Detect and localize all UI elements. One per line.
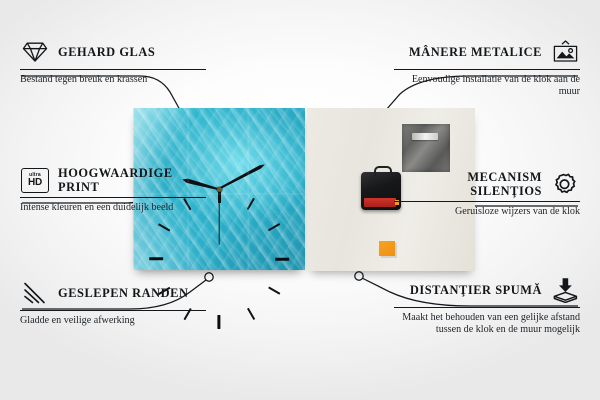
diamond-icon bbox=[20, 38, 50, 66]
feature-title: GESLEPEN RANDEN bbox=[58, 286, 188, 300]
gear-icon bbox=[550, 170, 580, 198]
feature-description: Bestand tegen breuk en krassen bbox=[20, 74, 206, 86]
clock-minute-hand bbox=[218, 163, 266, 191]
feature-divider bbox=[394, 201, 580, 202]
clock-tick bbox=[149, 257, 163, 260]
feature-divider bbox=[20, 310, 206, 311]
feature-header: GEHARD GLAS bbox=[20, 38, 206, 66]
beveled-edges-icon bbox=[20, 279, 50, 307]
feature-mecanism-silentios: MECANISM SILENŢIOS Geruisloze wijzers va… bbox=[394, 170, 580, 219]
clock-tick bbox=[158, 223, 170, 232]
feature-title: GEHARD GLAS bbox=[58, 45, 155, 59]
clock-tick bbox=[275, 258, 289, 261]
connector-dot-distantier-spuma bbox=[355, 272, 363, 280]
clock-tick bbox=[246, 308, 255, 320]
feature-divider bbox=[20, 69, 206, 70]
feature-header: ultra HD HOOGWAARDIGE PRINT bbox=[20, 166, 206, 194]
product-feature-poster: GEHARD GLAS Bestand tegen breuk en krass… bbox=[0, 0, 600, 400]
feature-description: Maakt het behouden van een gelijke afsta… bbox=[394, 312, 580, 336]
feature-description: Intense kleuren en een duidelijk beeld bbox=[20, 202, 206, 214]
mechanism-hanger-lug bbox=[374, 166, 392, 177]
feature-header: MECANISM SILENŢIOS bbox=[394, 170, 580, 198]
feature-header: GESLEPEN RANDEN bbox=[20, 279, 206, 307]
feature-title: DISTANŢIER SPUMĂ bbox=[410, 283, 542, 297]
feature-divider bbox=[394, 69, 580, 70]
feature-divider bbox=[394, 307, 580, 308]
feature-description: Eenvoudige installatie van de klok aan d… bbox=[394, 74, 580, 98]
foam-spacer bbox=[379, 241, 395, 256]
feature-title: MÂNERE METALICE bbox=[409, 45, 542, 59]
feature-title: HOOGWAARDIGE PRINT bbox=[58, 166, 206, 194]
feature-description: Geruisloze wijzers van de klok bbox=[394, 206, 580, 218]
feature-manere-metalice: MÂNERE METALICE Eenvoudige installatie v… bbox=[394, 38, 580, 98]
connector-dot-geslepen-randen bbox=[205, 273, 213, 281]
feature-geslepen-randen: GESLEPEN RANDEN Gladde en veilige afwerk… bbox=[20, 279, 206, 327]
metal-hanger-plate bbox=[402, 124, 450, 172]
clock-hand-cap bbox=[217, 187, 222, 192]
mechanism-battery bbox=[364, 198, 396, 207]
feature-description: Gladde en veilige afwerking bbox=[20, 315, 206, 327]
feature-hoogwaardige-print: ultra HD HOOGWAARDIGE PRINT Intense kleu… bbox=[20, 166, 206, 215]
clock-tick bbox=[268, 286, 280, 295]
clock-tick bbox=[268, 223, 280, 232]
clock-tick bbox=[246, 198, 255, 210]
spacer-arrow-icon bbox=[550, 276, 580, 304]
clock-tick bbox=[218, 189, 221, 203]
feature-header: MÂNERE METALICE bbox=[394, 38, 580, 66]
clock-tick bbox=[217, 315, 220, 329]
ultra-hd-icon: ultra HD bbox=[20, 166, 50, 194]
feature-gehard-glas: GEHARD GLAS Bestand tegen breuk en krass… bbox=[20, 38, 206, 86]
feature-distantier-spuma: DISTANŢIER SPUMĂ Maakt het behouden van … bbox=[394, 276, 580, 336]
picture-hanger-icon bbox=[550, 38, 580, 66]
feature-header: DISTANŢIER SPUMĂ bbox=[394, 276, 580, 304]
feature-divider bbox=[20, 197, 206, 198]
feature-title: MECANISM SILENŢIOS bbox=[394, 170, 542, 198]
clock-second-hand bbox=[218, 189, 219, 245]
